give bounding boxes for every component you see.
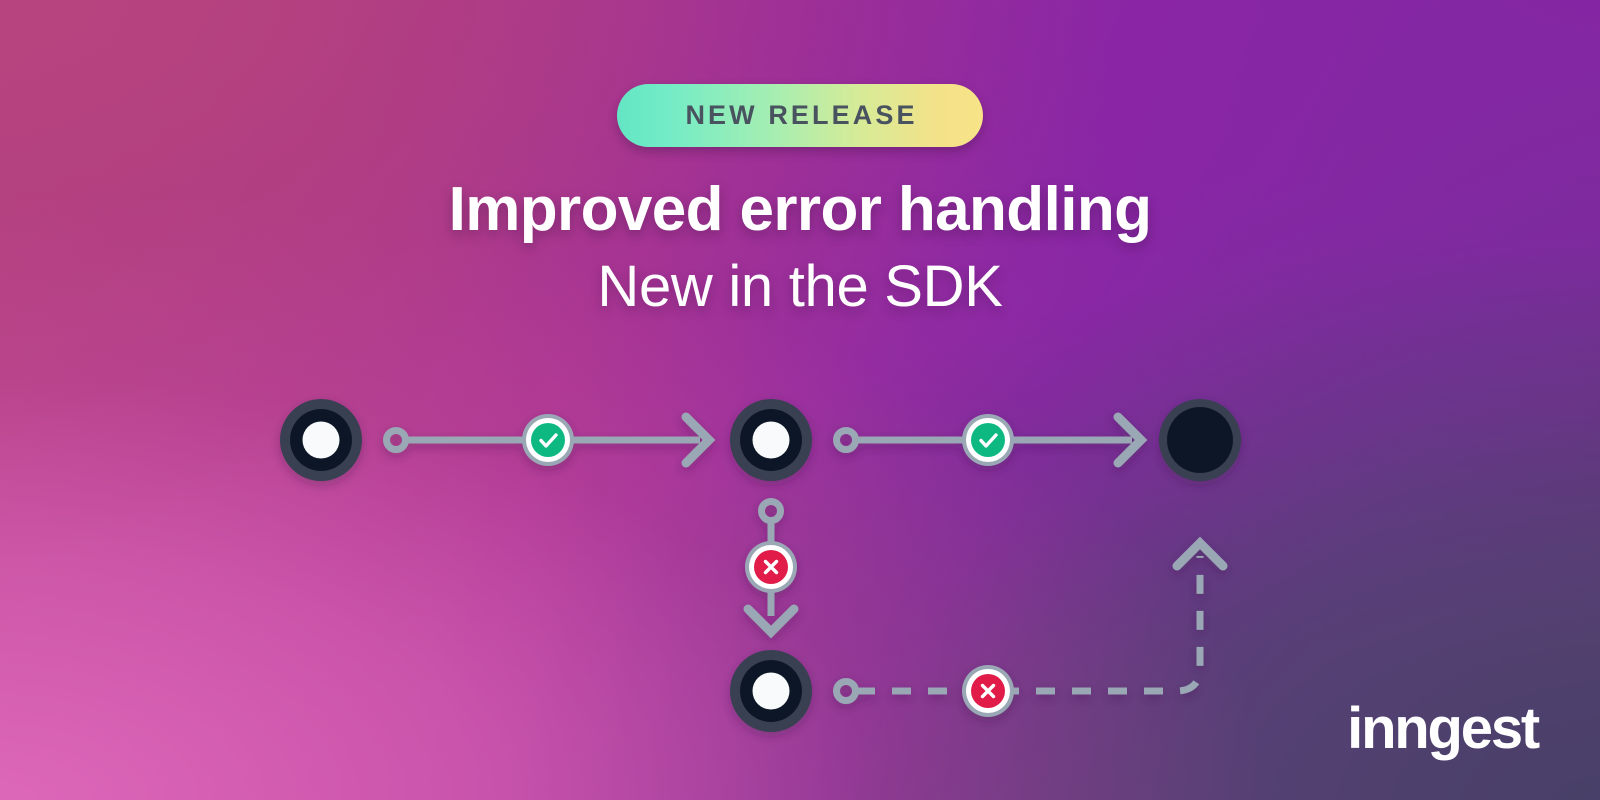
node-step-end[interactable] — [1159, 399, 1241, 481]
node-dot — [753, 422, 790, 459]
inngest-logo: inngest — [1347, 700, 1538, 758]
badge-fill — [531, 423, 565, 457]
node-step-start[interactable] — [280, 399, 362, 481]
node-dot — [303, 422, 340, 459]
promo-banner: NEW RELEASE Improved error handling New … — [0, 0, 1600, 800]
edge-retry-to-end — [837, 543, 1224, 701]
node-step-retry[interactable] — [730, 650, 812, 732]
status-badge-error-2[interactable] — [962, 665, 1014, 717]
node-step-middle[interactable] — [730, 399, 812, 481]
node-dot — [753, 673, 790, 710]
workflow-diagram — [0, 0, 1600, 800]
edge-line-dashed — [856, 556, 1200, 691]
arrowhead-icon — [1177, 543, 1223, 566]
node-core — [1167, 407, 1233, 473]
status-badge-success-1[interactable] — [522, 414, 574, 466]
edge-source-nub-icon — [762, 502, 781, 521]
badge-fill — [971, 423, 1005, 457]
status-badge-error-1[interactable] — [745, 541, 797, 593]
status-badge-success-2[interactable] — [962, 414, 1014, 466]
edge-source-nub-icon — [837, 431, 856, 450]
edge-source-nub-icon — [837, 682, 856, 701]
edge-source-nub-icon — [387, 431, 406, 450]
